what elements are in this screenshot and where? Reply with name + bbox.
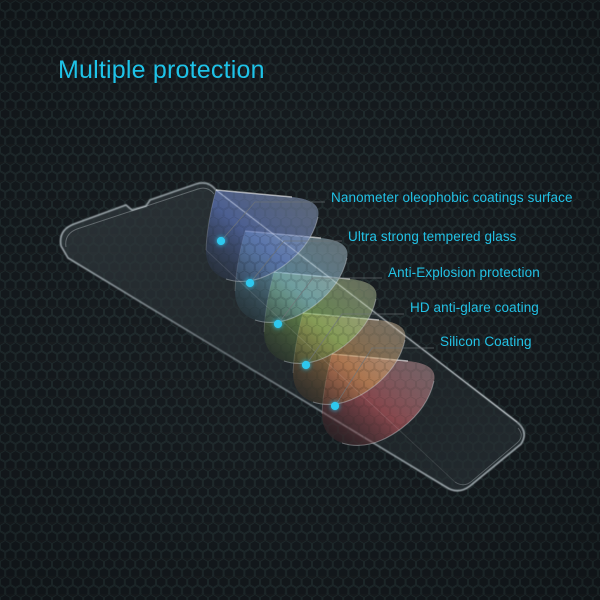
callout-label-1: Nanometer oleophobic coatings surface — [331, 190, 573, 205]
page-title: Multiple protection — [58, 56, 265, 85]
callout-label-5: Silicon Coating — [440, 334, 532, 349]
callout-label-3: Anti-Explosion protection — [388, 265, 540, 280]
callout-dot-4 — [302, 361, 310, 369]
callout-dot-1 — [217, 237, 225, 245]
callout-dot-3 — [274, 320, 282, 328]
callout-dot-2 — [246, 279, 254, 287]
product-infographic: Multiple protection — [0, 0, 600, 600]
callout-label-4: HD anti-glare coating — [410, 300, 539, 315]
callout-dot-5 — [331, 402, 339, 410]
callout-label-2: Ultra strong tempered glass — [348, 229, 517, 244]
